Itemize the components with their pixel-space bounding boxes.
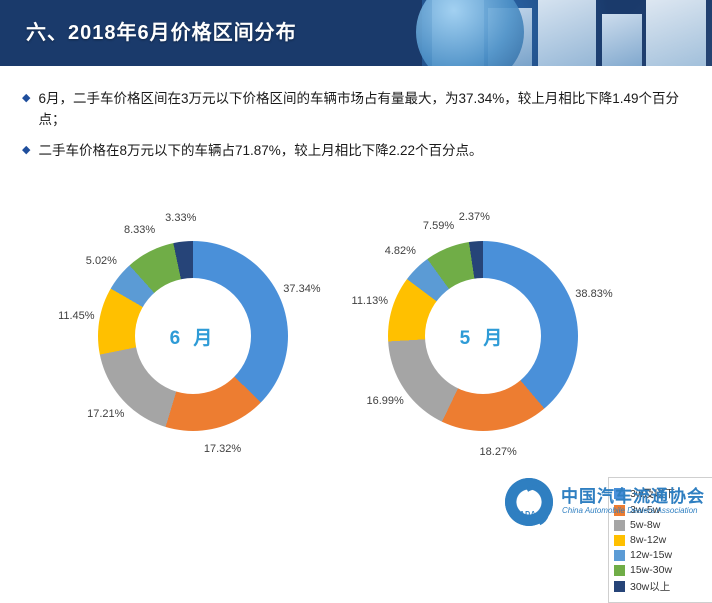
slice-label-june-6: 3.33% [165,212,196,224]
diamond-bullet-icon: ◆ [22,140,30,160]
donut-center-label-may: 5 月 [425,278,541,394]
charts-container: 6 月 37.34% 17.32% 17.21% 11.45% 5.02% 8.… [0,205,712,465]
legend-item: 30w以上 [614,579,710,594]
slice-label-may-5: 7.59% [423,220,454,232]
list-item: ◆ 二手车价格在8万元以下的车辆占71.87%，较上月相比下降2.22个百分点。 [22,140,690,161]
slice-label-june-0: 37.34% [283,283,320,295]
slice-label-may-3: 11.13% [352,295,389,307]
slice-label-june-2: 17.21% [87,408,124,420]
logo-english-name: China Automobile Dealers Association [562,506,697,515]
slice-label-june-4: 5.02% [86,255,117,267]
header-decoration [422,0,712,66]
legend-label: 30w以上 [630,579,670,594]
header-cube-icon [538,0,596,66]
legend-swatch-icon [614,535,625,546]
header-cube-icon [646,0,706,66]
legend-label: 12w-15w [630,549,672,561]
slice-label-june-1: 17.32% [204,443,241,455]
bullet-list: ◆ 6月，二手车价格区间在3万元以下价格区间的车辆市场占有量最大，为37.34%… [22,88,690,171]
donut-chart-may: 5 月 38.83% 18.27% 16.99% 11.13% 4.82% 7.… [368,221,598,451]
header-cube-icon [602,14,642,66]
donut-center-label-june: 6 月 [135,278,251,394]
logo-cada-text: CADA [514,511,536,518]
footer-logo: CADA 中国汽车流通协会 China Automobile Dealers A… [505,478,705,528]
legend-swatch-icon [614,550,625,561]
page-title: 六、2018年6月价格区间分布 [26,16,297,45]
legend-swatch-icon [614,581,625,592]
list-item: ◆ 6月，二手车价格区间在3万元以下价格区间的车辆市场占有量最大，为37.34%… [22,88,690,130]
slice-label-may-6: 2.37% [459,211,490,223]
diamond-bullet-icon: ◆ [22,88,30,108]
bullet-text: 二手车价格在8万元以下的车辆占71.87%，较上月相比下降2.22个百分点。 [38,140,482,161]
slice-label-may-0: 38.83% [575,288,612,300]
legend-label: 8w-12w [630,534,666,546]
slice-label-may-4: 4.82% [385,245,416,257]
legend-item: 15w-30w [614,564,710,576]
slice-label-june-5: 8.33% [124,224,155,236]
slice-label-june-3: 11.45% [58,310,95,322]
swoosh-icon [509,480,556,531]
legend-label: 15w-30w [630,564,672,576]
donut-chart-june: 6 月 37.34% 17.32% 17.21% 11.45% 5.02% 8.… [78,221,308,451]
slice-label-may-2: 16.99% [367,395,404,407]
cada-logo-icon: CADA [505,478,553,526]
legend-item: 12w-15w [614,549,710,561]
slice-label-may-1: 18.27% [480,446,517,458]
logo-chinese-name: 中国汽车流通协会 [561,482,705,507]
bullet-text: 6月，二手车价格区间在3万元以下价格区间的车辆市场占有量最大，为37.34%，较… [38,88,690,130]
slide-header: 六、2018年6月价格区间分布 [0,0,712,66]
globe-icon [416,0,524,66]
legend-swatch-icon [614,565,625,576]
legend-item: 8w-12w [614,534,710,546]
